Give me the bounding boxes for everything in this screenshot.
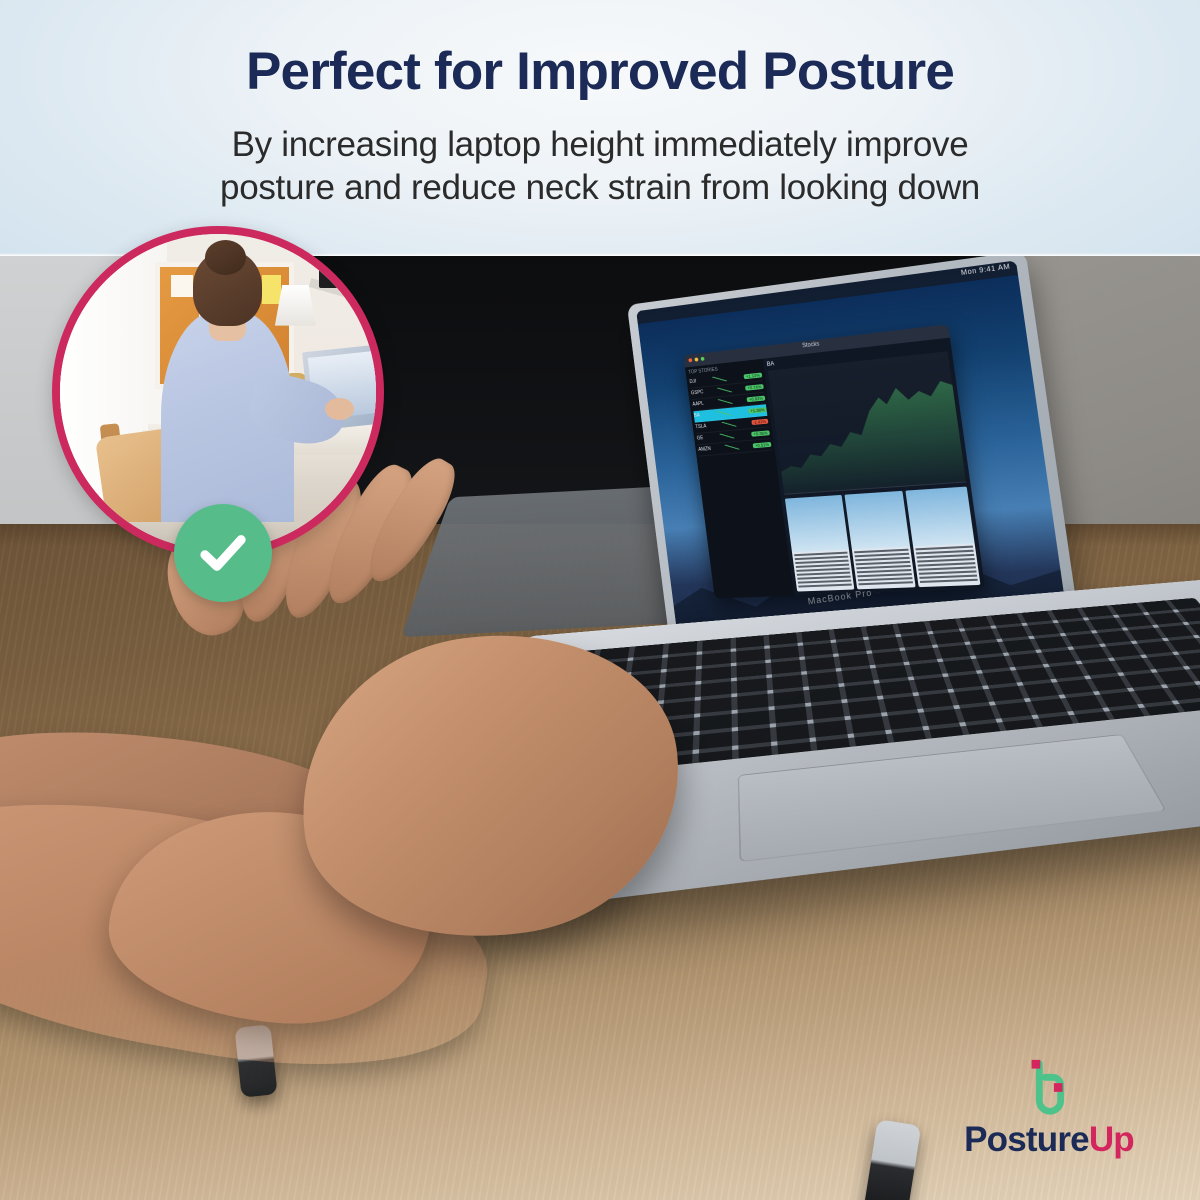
- subtitle-line-1: By increasing laptop height immediately …: [232, 125, 969, 164]
- inset-lamp-clamp: [319, 266, 341, 288]
- sparkline-icon: [721, 421, 736, 428]
- ticker-symbol: TSLA: [695, 424, 707, 431]
- sparkline-icon: [724, 444, 739, 451]
- sparkline-icon: [713, 376, 728, 383]
- status-badge: [174, 504, 272, 602]
- product-listing-image: Perfect for Improved Posture By increasi…: [0, 0, 1200, 1200]
- news-card[interactable]: [785, 495, 854, 591]
- ticker-change: +0.74%: [745, 384, 763, 391]
- ticker-symbol: GSPC: [691, 390, 704, 397]
- news-headline-lines: [854, 549, 914, 588]
- news-headline-lines: [794, 552, 852, 590]
- news-image: [785, 495, 849, 552]
- ticker-symbol: BA: [694, 413, 701, 419]
- news-image: [906, 487, 975, 547]
- ticker-change: -2.41%: [751, 419, 768, 425]
- page-subtitle: By increasing laptop height immediately …: [0, 124, 1200, 209]
- ticker-change: +0.35%: [751, 430, 769, 436]
- sparkline-icon: [717, 410, 732, 417]
- brand-wordmark: PostureUp: [944, 1122, 1154, 1157]
- sparkline-icon: [720, 433, 735, 440]
- news-card[interactable]: [844, 491, 916, 589]
- inset-scene: [60, 234, 376, 550]
- ticker-change: +1.38%: [748, 407, 766, 414]
- menubar-clock: Mon 9:41 AM: [961, 263, 1011, 277]
- page-title: Perfect for Improved Posture: [0, 44, 1200, 100]
- postureup-monogram-icon: [1018, 1056, 1080, 1118]
- trackpad[interactable]: [738, 734, 1167, 862]
- stock-price-chart: [768, 351, 966, 495]
- ticker-symbol: AAPL: [692, 401, 704, 408]
- chart-area-fill: [768, 351, 966, 494]
- ticker-symbol: GE: [697, 436, 704, 442]
- header-band: Perfect for Improved Posture By increasi…: [0, 0, 1200, 258]
- stock-detail-pane: BA: [762, 337, 985, 595]
- subtitle-line-2: posture and reduce neck strain from look…: [0, 167, 1200, 210]
- news-card[interactable]: [906, 487, 981, 587]
- ticker-change: +1.12%: [744, 372, 762, 379]
- ticker-symbol: AMZN: [698, 446, 711, 453]
- stocks-body: TOP STORIES DJI +1.12% GSPC +0.74%: [685, 337, 985, 598]
- inset-sticky-note: [262, 275, 281, 303]
- brand-logo: PostureUp: [944, 1056, 1154, 1168]
- check-icon: [194, 524, 252, 582]
- inset-note: [171, 275, 193, 297]
- ticker-change: +0.92%: [747, 396, 765, 403]
- sparkline-icon: [718, 398, 733, 405]
- ticker-change: +0.51%: [753, 442, 771, 448]
- brand-word-up: Up: [1089, 1120, 1134, 1159]
- stocks-app-window: Stocks TOP STORIES DJI +1.12%: [683, 324, 985, 598]
- brand-word-posture: Posture: [964, 1120, 1089, 1159]
- ticker-symbol: DJI: [689, 379, 696, 385]
- news-image: [844, 491, 910, 549]
- inset-photo-group: [52, 226, 384, 558]
- sparkline-icon: [717, 387, 732, 394]
